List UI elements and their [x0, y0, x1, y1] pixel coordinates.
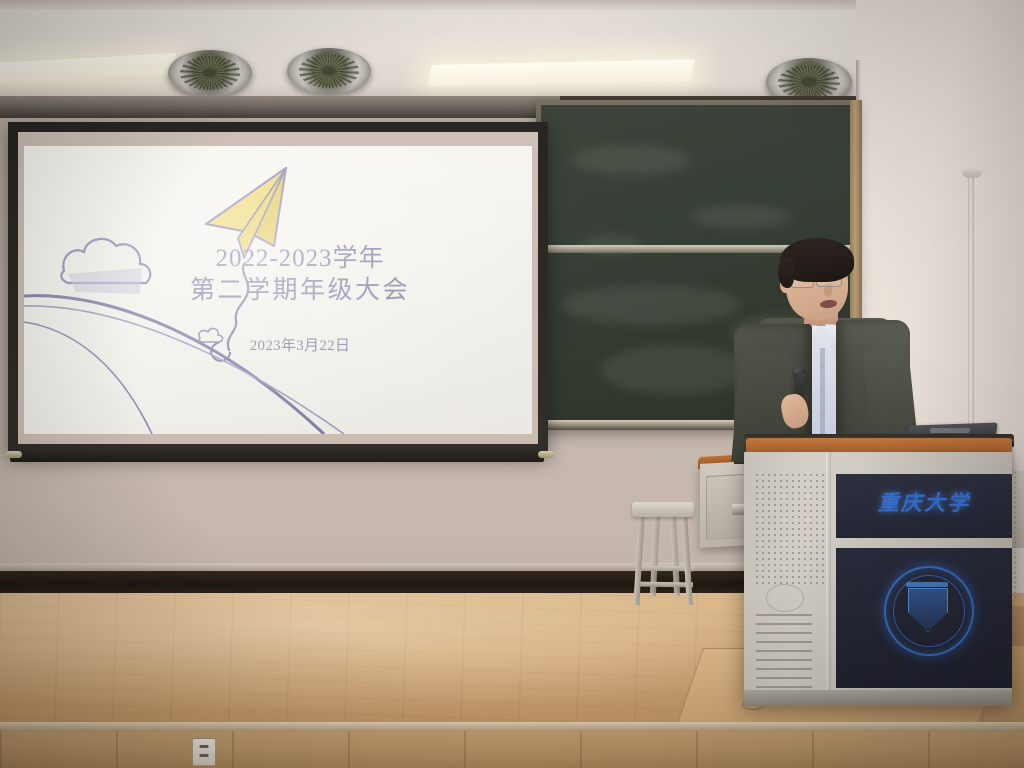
slide-title-block: 2022-2023学年 第二学期年级大会 [24, 244, 532, 308]
slide-title-line2: 第二学期年级大会 [68, 274, 532, 308]
slide-date: 2023年3月22日 [24, 334, 532, 355]
wall-pipe-cap [962, 168, 982, 178]
stage-front-face [0, 731, 1024, 768]
projection-screen: 2022-2023学年 第二学期年级大会 2023年3月22日 [24, 146, 532, 434]
power-outlet[interactable] [192, 738, 216, 766]
podium-university-name: 重庆大学 [836, 487, 1012, 517]
monitor-stand-notch [930, 428, 971, 433]
seal-banner [906, 582, 948, 587]
wall-lip [0, 563, 856, 571]
lecture-hall-photo: 2022-2023学年 第二学期年级大会 2023年3月22日 [0, 0, 1024, 768]
speaker-person [728, 232, 914, 462]
screen-bar-cap-left [6, 451, 22, 458]
slide-title-line1: 2022-2023学年 [68, 244, 532, 274]
hair-side [778, 258, 794, 288]
podium-front-edge [826, 452, 831, 702]
stool-seat [632, 502, 694, 517]
hill-arc-2 [24, 306, 344, 434]
slide-date-text: 2023年3月22日 [206, 338, 351, 354]
podium-vent [756, 614, 812, 698]
podium-brand-logo [766, 584, 804, 612]
hill-arc-1 [24, 296, 324, 434]
podium-speaker-grille [754, 472, 828, 584]
screen-bar-cap-right [538, 451, 554, 458]
screen-bottom-bar [10, 448, 544, 462]
baseboard [0, 571, 856, 593]
podium-base [744, 690, 1012, 706]
